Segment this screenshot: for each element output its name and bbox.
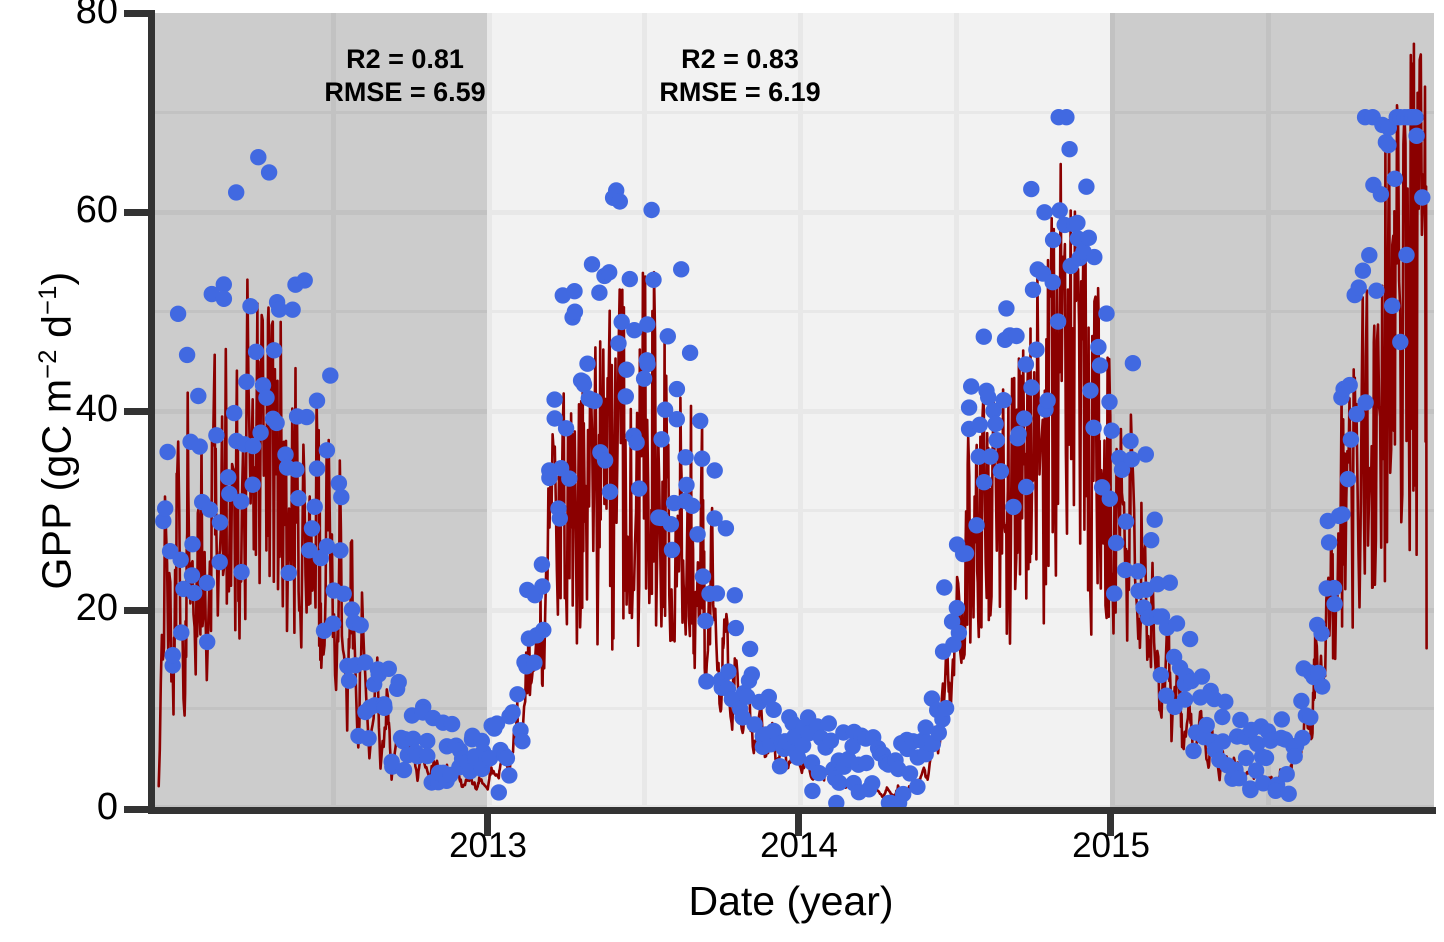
- y-axis-title-sup-m: −2: [34, 349, 62, 378]
- y-axis-title: GPP (gC m−2 d−1): [34, 121, 81, 741]
- annotation-calibration: R2 = 0.81 RMSE = 6.59: [265, 43, 545, 109]
- x-tick-label-2014: 2014: [729, 826, 869, 866]
- y-axis-title-main: GPP (gC m: [34, 379, 80, 590]
- x-tick-label-2013: 2013: [418, 826, 558, 866]
- y-tick-mark-60: [124, 209, 150, 216]
- x-tick-label-2015: 2015: [1041, 826, 1181, 866]
- plot-panel: R2 = 0.81 RMSE = 6.59 R2 = 0.83 RMSE = 6…: [155, 13, 1434, 807]
- x-axis-title: Date (year): [148, 878, 1434, 925]
- y-tick-mark-20: [124, 607, 150, 614]
- annotation-validation: R2 = 0.83 RMSE = 6.19: [600, 43, 880, 109]
- y-axis-title-tail: ): [34, 272, 80, 286]
- y-tick-mark-80: [124, 10, 150, 17]
- y-axis-title-mid: d: [34, 315, 80, 350]
- chart-figure: 80 60 40 20 0 GPP (gC m−2 d−1): [0, 0, 1444, 942]
- data-series-layer: [155, 13, 1434, 807]
- y-tick-mark-40: [124, 408, 150, 415]
- y-tick-mark-0: [124, 806, 150, 813]
- y-tick-label-80: 80: [18, 0, 118, 30]
- x-axis-line: [148, 807, 1436, 814]
- y-axis-title-sup-d: −1: [34, 285, 62, 314]
- y-tick-label-0: 0: [18, 788, 118, 826]
